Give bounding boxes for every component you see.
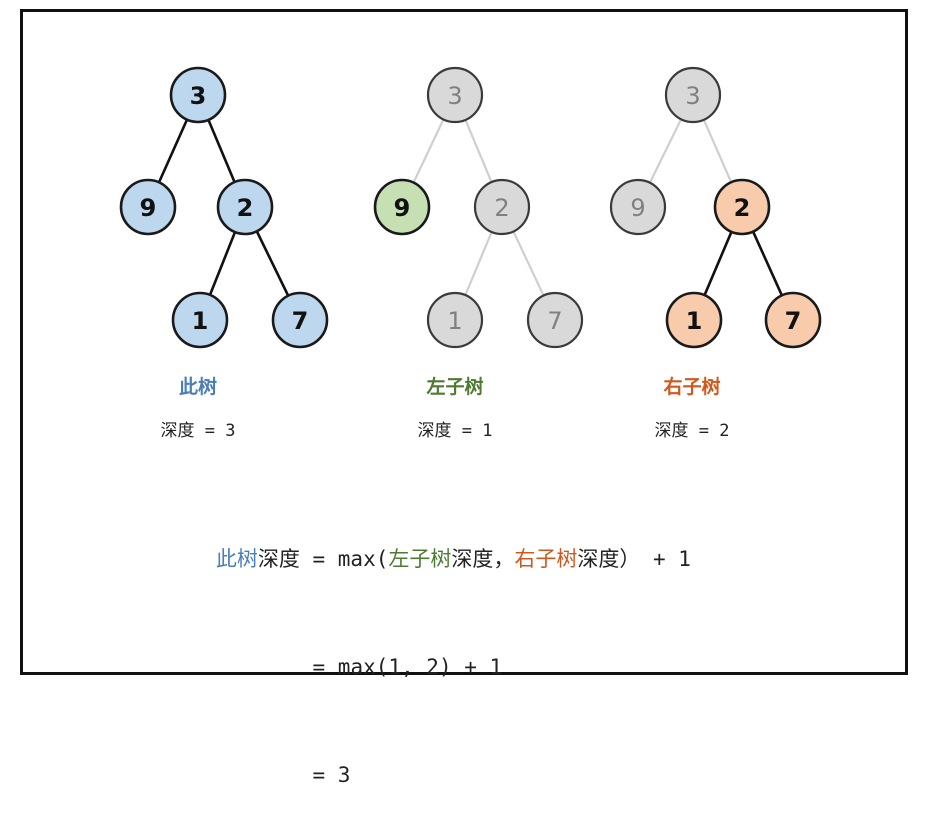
formula-right-token: 右子树 [514, 547, 577, 571]
tree-node[interactable]: 1 [667, 293, 721, 347]
tree-node-value: 7 [292, 307, 309, 335]
tree-edge [256, 230, 288, 296]
formula-line-1: 此树深度 = max(左子树深度，右子树深度） + 1 [140, 505, 840, 613]
formula-left-token: 左子树 [388, 547, 451, 571]
tree-node[interactable]: 3 [428, 68, 482, 122]
tree-edge [465, 119, 492, 183]
tree-node[interactable]: 7 [273, 293, 327, 347]
tree-nodes-layer: 392173921739217 [121, 68, 820, 347]
tree-edge [704, 231, 732, 296]
tree-depth-right: 深度 = 2 [622, 416, 762, 441]
tree-caption-this: 此树 [128, 372, 268, 399]
tree-node[interactable]: 9 [611, 180, 665, 234]
tree-node-value: 7 [785, 307, 802, 335]
tree-node-value: 1 [686, 307, 703, 335]
tree-node[interactable]: 7 [528, 293, 582, 347]
figure-canvas: 392173921739217 此树 左子树 右子树 深度 = 3 深度 = 1… [0, 0, 927, 688]
tree-node-value: 2 [237, 194, 254, 222]
tree-node-value: 9 [140, 194, 157, 222]
tree-edge [753, 231, 783, 297]
tree-node-value: 2 [494, 194, 509, 222]
tree-node-value: 3 [685, 82, 700, 110]
tree-caption-left: 左子树 [385, 372, 525, 399]
formula-line-3: 此树深度 = 3 [140, 721, 840, 829]
tree-edge [208, 119, 235, 183]
tree-node[interactable]: 2 [475, 180, 529, 234]
tree-node[interactable]: 3 [171, 68, 225, 122]
tree-depth-this: 深度 = 3 [128, 416, 268, 441]
tree-node-value: 3 [190, 82, 207, 110]
formula-line-3-text: = 3 [313, 763, 351, 787]
tree-node-value: 9 [630, 194, 645, 222]
tree-node[interactable]: 3 [666, 68, 720, 122]
tree-node-value: 7 [547, 307, 562, 335]
tree-node-value: 9 [394, 194, 411, 222]
tree-node-value: 1 [192, 307, 209, 335]
tree-edge [649, 118, 681, 183]
formula-seg-a: 深度 = max( [258, 547, 389, 571]
tree-edge [413, 119, 444, 184]
tree-node[interactable]: 9 [375, 180, 429, 234]
tree-node[interactable]: 1 [173, 293, 227, 347]
tree-node[interactable]: 9 [121, 180, 175, 234]
formula-this-token: 此树 [216, 547, 258, 571]
tree-node-value: 1 [447, 307, 462, 335]
formula-seg-b: 深度， [451, 547, 514, 571]
formula-line-2-text: = max(1, 2) + 1 [313, 655, 503, 679]
tree-node-value: 2 [734, 194, 751, 222]
tree-edge [210, 231, 236, 296]
tree-depth-left: 深度 = 1 [385, 416, 525, 441]
tree-node[interactable]: 2 [218, 180, 272, 234]
depth-formula: 此树深度 = max(左子树深度，右子树深度） + 1 此树深度 = max(1… [140, 505, 840, 829]
tree-node[interactable]: 2 [715, 180, 769, 234]
tree-node[interactable]: 1 [428, 293, 482, 347]
tree-caption-right: 右子树 [622, 372, 762, 399]
tree-edge [159, 119, 188, 184]
tree-edge [513, 231, 544, 297]
tree-edge [465, 231, 492, 296]
formula-line-2: 此树深度 = max(1, 2) + 1 [140, 613, 840, 721]
tree-node-value: 3 [447, 82, 462, 110]
tree-edge [703, 119, 731, 183]
formula-seg-c: 深度） + 1 [577, 547, 691, 571]
tree-node[interactable]: 7 [766, 293, 820, 347]
